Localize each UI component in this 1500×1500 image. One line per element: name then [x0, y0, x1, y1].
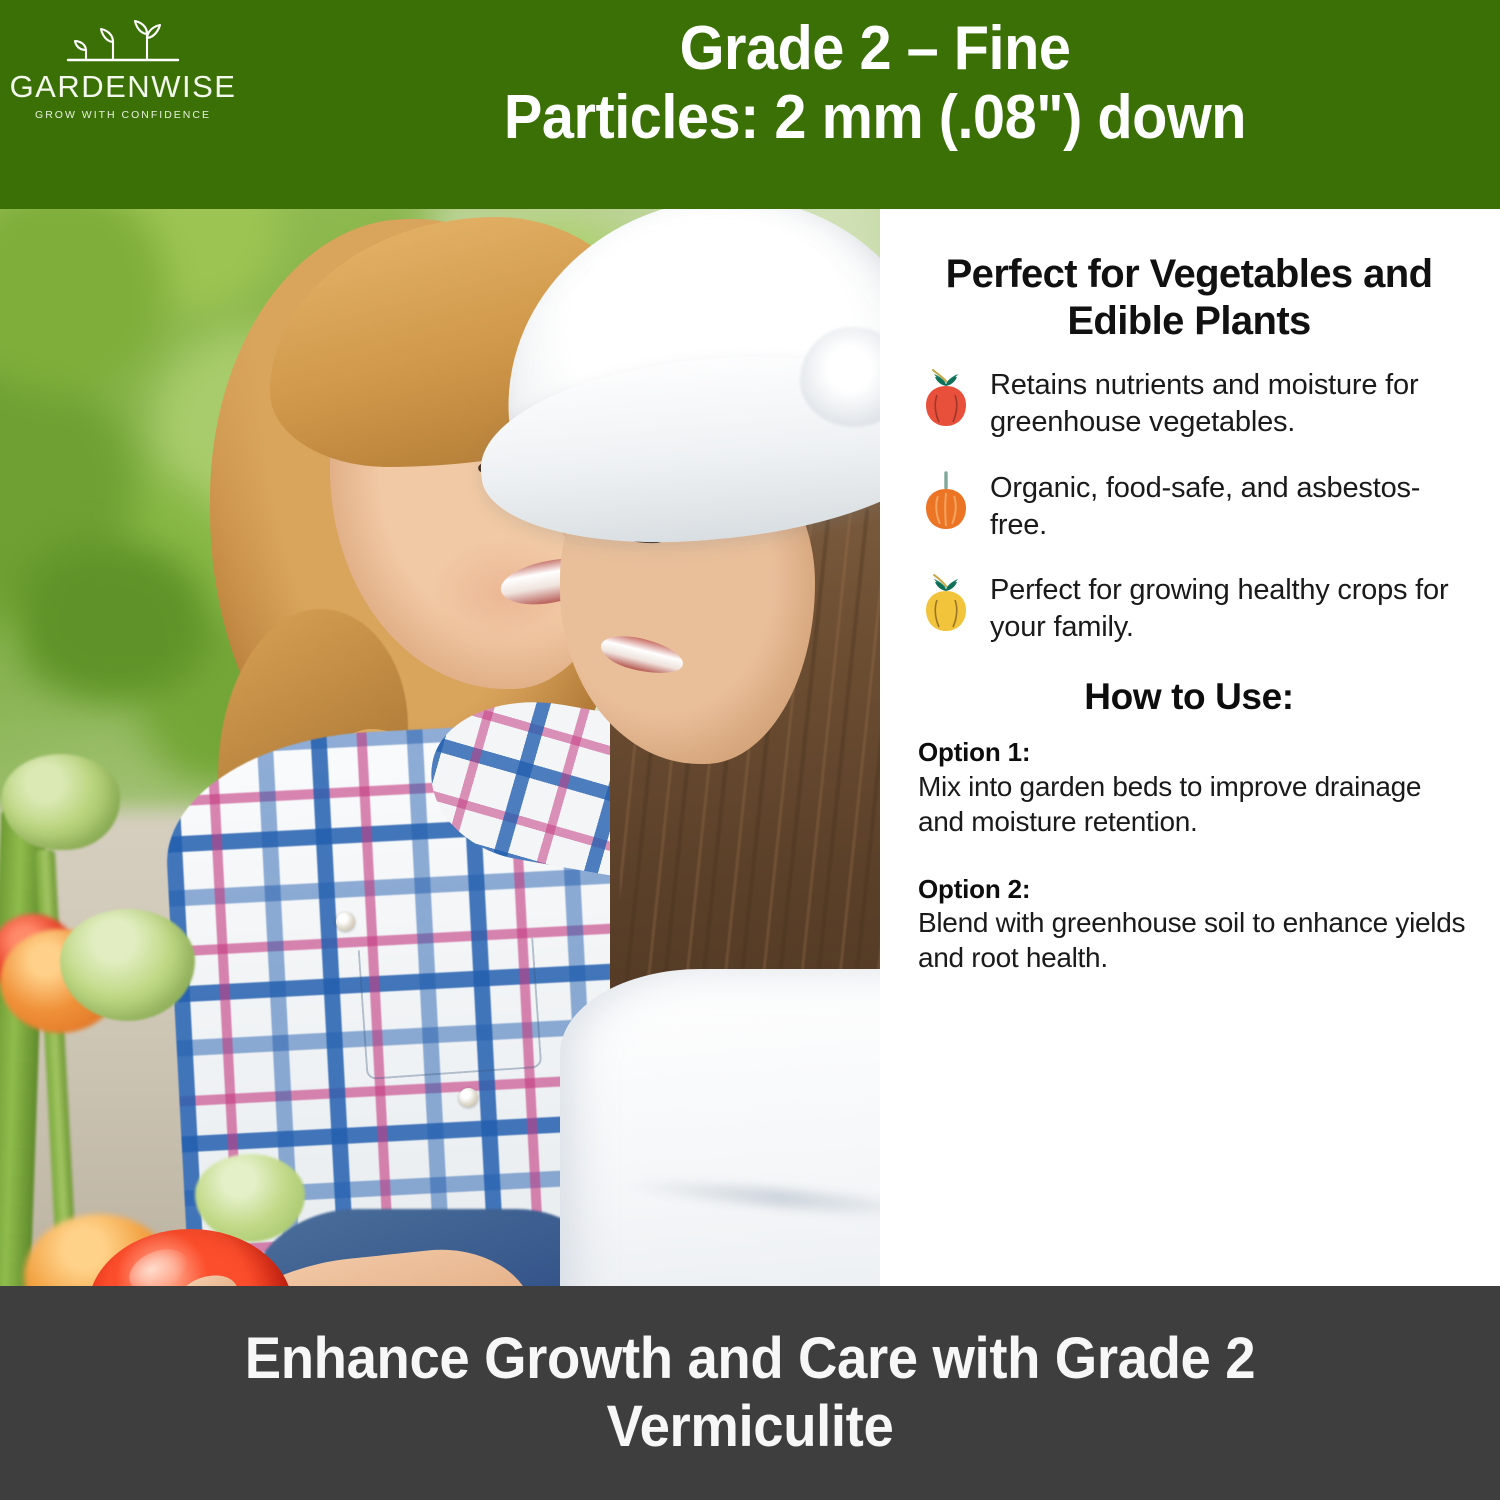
how-to-use-title: How to Use:	[904, 676, 1474, 718]
green-tomato	[2, 754, 120, 850]
footer-tagline-line2: Vermiculite	[83, 1393, 1418, 1461]
feature-panel: Perfect for Vegetables and Edible Plants	[880, 209, 1500, 1286]
header-title-line1: Grade 2 – Fine	[294, 14, 1457, 83]
benefit-item: Organic, food-safe, and asbestos-free.	[920, 468, 1474, 544]
yellow-bell-pepper-icon	[920, 572, 972, 634]
option-text: Blend with greenhouse soil to enhance yi…	[918, 905, 1474, 975]
girl-white-tshirt	[560, 969, 880, 1286]
benefit-item: Retains nutrients and moisture for green…	[920, 365, 1474, 441]
benefit-text: Organic, food-safe, and asbestos-free.	[990, 468, 1474, 544]
option-label: Option 1:	[918, 736, 1474, 769]
footer-banner: Enhance Growth and Care with Grade 2 Ver…	[0, 1286, 1500, 1500]
benefit-item: Perfect for growing healthy crops for yo…	[920, 570, 1474, 646]
option-text: Mix into garden beds to improve drainage…	[918, 769, 1474, 839]
benefit-text: Perfect for growing healthy crops for yo…	[990, 570, 1474, 646]
benefit-text: Retains nutrients and moisture for green…	[990, 365, 1474, 441]
red-bell-pepper-icon	[920, 367, 972, 429]
brand-name: GARDENWISE	[8, 71, 238, 104]
header-banner: GARDENWISE GROW WITH CONFIDENCE Grade 2 …	[0, 0, 1500, 209]
brand-tagline: GROW WITH CONFIDENCE	[8, 109, 238, 121]
shirt-button	[336, 912, 355, 931]
sprout-seedlings-icon	[8, 16, 238, 69]
shirt-button	[459, 1088, 478, 1107]
woman-shirt-pocket	[358, 938, 543, 1080]
panel-headline: Perfect for Vegetables and Edible Plants	[910, 251, 1468, 345]
footer-tagline-line1: Enhance Growth and Care with Grade 2	[83, 1325, 1418, 1393]
usage-option-1: Option 1: Mix into garden beds to improv…	[918, 736, 1474, 839]
header-title: Grade 2 – Fine Particles: 2 mm (.08") do…	[294, 14, 1457, 153]
footer-tagline: Enhance Growth and Care with Grade 2 Ver…	[83, 1325, 1418, 1462]
option-label: Option 2:	[918, 873, 1474, 906]
header-title-line2: Particles: 2 mm (.08") down	[294, 83, 1457, 152]
usage-option-2: Option 2: Blend with greenhouse soil to …	[918, 873, 1474, 976]
product-infographic: GARDENWISE GROW WITH CONFIDENCE Grade 2 …	[0, 0, 1500, 1500]
orange-bell-pepper-icon	[920, 470, 972, 532]
lifestyle-photo	[0, 209, 880, 1286]
benefits-list: Retains nutrients and moisture for green…	[904, 365, 1474, 646]
brand-logo: GARDENWISE GROW WITH CONFIDENCE	[8, 16, 238, 121]
